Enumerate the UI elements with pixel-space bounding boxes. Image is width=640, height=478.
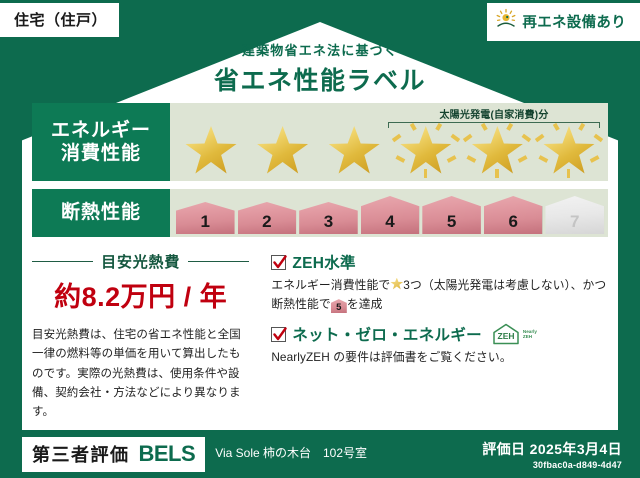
zeh-body-text-2: 3つ（太陽光発電 (403, 278, 493, 292)
star-item-solar (536, 121, 602, 179)
title-main: 省エネ性能ラベル (0, 61, 640, 97)
insulation-badge: 3 (299, 202, 358, 234)
insulation-performance-label-cell: 断熱性能 (32, 189, 170, 237)
energy-label-line1: エネルギー (51, 119, 151, 142)
sparkle-mark (392, 134, 401, 142)
insulation-badge-number: 5 (447, 213, 456, 234)
insulation-badge-shape: 4 (361, 196, 420, 234)
energy-performance-label-cell: エネルギー 消費性能 (32, 103, 170, 181)
insulation-badge-number: 1 (201, 213, 210, 234)
star-item-solar (393, 121, 459, 179)
insulation-badge: 5 (422, 196, 481, 234)
energy-performance-value-cell: 太陽光発電(自家消費)分 (170, 103, 608, 181)
insulation-label: 断熱性能 (61, 201, 141, 224)
solar-bracket-label: 太陽光発電(自家消費)分 (388, 106, 600, 121)
insulation-performance-row: 断熱性能 1 2 3 (32, 189, 608, 237)
evaluation-date: 評価日 2025年3月4日 (482, 439, 622, 459)
heading-rule-left (32, 261, 93, 263)
zeh-standard-body: エネルギー消費性能で3つ（太陽光発電は考慮しない）、かつ断熱性能で5を達成 (271, 276, 608, 314)
renewable-equipment-label: 再エネ設備あり (522, 11, 626, 32)
evaluation-id: 30fbac0a-d849-4d47 (482, 460, 622, 470)
sparkle-mark (535, 134, 544, 142)
insulation-badge-shape: 5 (422, 196, 481, 234)
sparkle-mark (518, 155, 528, 162)
sparkle-mark (482, 123, 489, 131)
building-name: Via Sole 柿の木台 102号室 (215, 446, 367, 462)
sparkle-mark (446, 155, 456, 162)
checkbox-checked-icon (271, 255, 286, 270)
sparkle-mark (594, 134, 603, 142)
zeh-column: ZEH水準 エネルギー消費性能で3つ（太陽光発電は考慮しない）、かつ断熱性能で5… (257, 251, 608, 423)
utility-cost-heading-row: 目安光熱費 (32, 251, 249, 272)
dwelling-type-badge: 住宅（住戸） (0, 3, 119, 37)
sparkle-mark (410, 123, 417, 131)
insulation-badge: 6 (484, 196, 543, 234)
zeh-body-text-4: を達成 (347, 297, 383, 311)
utility-cost-amount: 約8.2万円 / 年 (32, 275, 249, 314)
insulation-badge-number: 4 (385, 213, 394, 234)
zeh-net-zero-body: NearlyZEH の要件は評価書をご覧ください。 (271, 348, 608, 367)
energy-label-line2: 消費性能 (61, 142, 141, 165)
sparkle-mark (590, 155, 600, 162)
title-subtitle: 建築物省エネ法に基づく (0, 40, 640, 59)
sun-icon (495, 8, 517, 35)
star-item (178, 121, 244, 179)
bels-logo-text: BELS (139, 441, 196, 467)
zeh-standard-title: ZEH水準 (292, 251, 356, 273)
sparkle-mark (463, 134, 472, 142)
sparkle-mark (553, 123, 560, 131)
sparkle-mark (435, 123, 442, 131)
insulation-badge-shape: 1 (176, 202, 235, 234)
inline-star-icon (390, 278, 403, 291)
zeh-house-icon: ZEH (491, 323, 521, 345)
zeh-item-net-zero: ネット・ゼロ・エネルギー ZEH Nearly ZEH (271, 323, 608, 367)
zeh-logo: ZEH Nearly ZEH (491, 323, 537, 345)
star-rating-group (178, 121, 602, 179)
insulation-badge-number: 3 (324, 213, 333, 234)
sparkle-mark (539, 155, 549, 162)
insulation-badge-number: 6 (508, 213, 517, 234)
insulation-badge: 2 (238, 202, 297, 234)
lower-section: 目安光熱費 約8.2万円 / 年 目安光熱費は、住宅の省エネ性能と全国一律の燃料… (32, 251, 608, 423)
zeh-logo-sub-line2: ZEH (523, 334, 532, 339)
renewable-equipment-badge: 再エネ設備あり (487, 3, 640, 41)
star-item-solar (464, 121, 530, 179)
insulation-badge: 4 (361, 196, 420, 234)
insulation-badge-number: 7 (570, 213, 579, 234)
star-icon (185, 126, 237, 176)
evaluation-info: 評価日 2025年3月4日 30fbac0a-d849-4d47 (482, 439, 622, 470)
title-block: 建築物省エネ法に基づく 省エネ性能ラベル (0, 40, 640, 97)
insulation-badge-number: 2 (262, 213, 271, 234)
sparkle-mark (507, 123, 514, 131)
star-icon (328, 126, 380, 176)
sparkle-mark (395, 155, 405, 162)
utility-cost-column: 目安光熱費 約8.2万円 / 年 目安光熱費は、住宅の省エネ性能と全国一律の燃料… (32, 251, 257, 423)
energy-performance-label: 住宅（住戸） 再エネ設備あり 建築物省エネ法に基づく (0, 0, 640, 478)
label-content: エネルギー 消費性能 太陽光発電(自家消費)分 (32, 103, 608, 423)
sparkle-mark (424, 169, 428, 178)
footer-bar: 第三者評価 BELS Via Sole 柿の木台 102号室 評価日 2025年… (0, 430, 640, 478)
bels-badge: 第三者評価 BELS (22, 437, 205, 472)
checkbox-checked-icon (271, 327, 286, 342)
insulation-badge-shape: 3 (299, 202, 358, 234)
zeh-body-text-1: エネルギー消費性能で (271, 278, 390, 292)
svg-text:ZEH: ZEH (497, 331, 514, 341)
sparkle-mark (495, 169, 499, 178)
zeh-logo-sublabel: Nearly ZEH (523, 329, 537, 340)
insulation-badge-shape: 2 (238, 202, 297, 234)
insulation-badge-shape: 6 (484, 196, 543, 234)
sparkle-mark (578, 123, 585, 131)
star-icon (257, 126, 309, 176)
zeh-net-zero-heading: ネット・ゼロ・エネルギー ZEH Nearly ZEH (271, 323, 608, 345)
star-item (250, 121, 316, 179)
zeh-standard-heading: ZEH水準 (271, 251, 608, 273)
sparkle-mark (522, 134, 531, 142)
zeh-item-standard: ZEH水準 エネルギー消費性能で3つ（太陽光発電は考慮しない）、かつ断熱性能で5… (271, 251, 608, 314)
insulation-badge-group: 1 2 3 4 (176, 189, 604, 237)
zeh-logo-sub-line1: Nearly (523, 329, 537, 334)
star-item (321, 121, 387, 179)
insulation-performance-value-cell: 1 2 3 4 (170, 189, 608, 237)
heading-rule-right (188, 261, 249, 263)
insulation-badge-inactive: 7 (545, 196, 604, 234)
sparkle-mark (467, 155, 477, 162)
zeh-net-zero-title: ネット・ゼロ・エネルギー (292, 323, 482, 345)
inline-insulation-badge: 5 (331, 299, 347, 313)
sparkle-mark (567, 169, 571, 178)
dwelling-type-label: 住宅（住戸） (14, 12, 107, 29)
insulation-badge: 1 (176, 202, 235, 234)
utility-cost-note: 目安光熱費は、住宅の省エネ性能と全国一律の燃料等の単価を用いて算出したものです。… (32, 326, 249, 423)
utility-cost-heading: 目安光熱費 (101, 251, 180, 272)
energy-performance-row: エネルギー 消費性能 太陽光発電(自家消費)分 (32, 103, 608, 181)
sparkle-mark (451, 134, 460, 142)
insulation-badge-shape: 7 (545, 196, 604, 234)
third-party-eval-label: 第三者評価 (32, 441, 130, 467)
